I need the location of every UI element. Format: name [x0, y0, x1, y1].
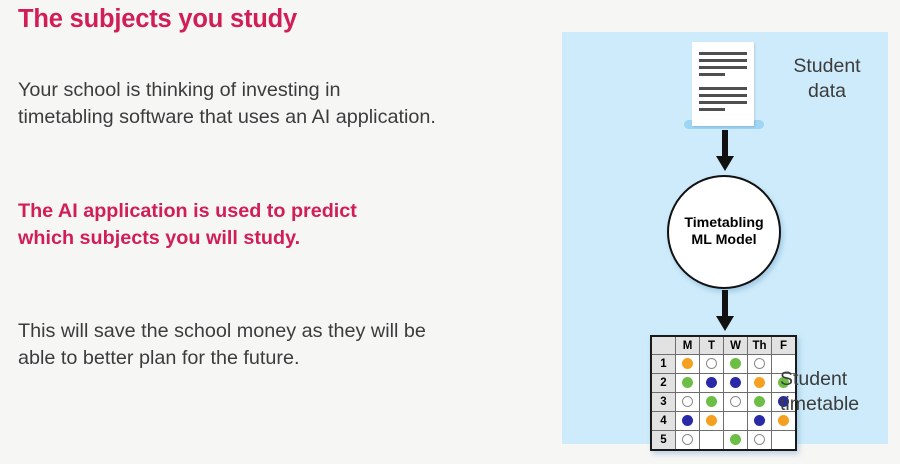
timetable-dot-orange	[706, 415, 717, 426]
timetable-dot-orange	[754, 377, 765, 388]
timetable-cell	[700, 412, 724, 431]
timetable-header-row: M T W Th F	[651, 336, 796, 355]
timetable-cell	[676, 393, 700, 412]
document-line	[699, 87, 747, 90]
document-line	[699, 108, 725, 111]
timetable-cell	[724, 374, 748, 393]
label-student-data-line2: data	[772, 79, 882, 104]
timetable-dot-hollow	[754, 434, 765, 445]
down-arrow-icon	[714, 290, 736, 332]
student-timetable-group: M T W Th F 12345	[650, 335, 797, 451]
diagram-panel: Student data Timetabling ML Model M T W …	[562, 32, 888, 444]
timetable-dot-hollow	[754, 358, 765, 369]
label-student-data-line1: Student	[772, 54, 882, 79]
timetable-cell	[676, 374, 700, 393]
label-student-timetable: Student timetable	[780, 367, 900, 417]
timetable-dot-blue	[706, 377, 717, 388]
timetable-row-header: 1	[651, 355, 676, 374]
timetable-cell	[748, 431, 772, 451]
label-student-timetable-line1: Student	[780, 367, 900, 392]
timetable-row: 5	[651, 431, 796, 451]
ml-model-line1: Timetabling	[684, 215, 763, 232]
timetable-row: 1	[651, 355, 796, 374]
timetable-cell	[724, 355, 748, 374]
label-student-timetable-line2: timetable	[780, 392, 900, 417]
timetable-col-header: F	[772, 336, 797, 355]
timetable-cell	[676, 412, 700, 431]
timetable-body: 12345	[651, 355, 796, 451]
timetable-grid: M T W Th F 12345	[650, 335, 797, 451]
timetable-dot-blue	[730, 377, 741, 388]
timetable-row-header: 4	[651, 412, 676, 431]
timetable-cell	[700, 431, 724, 451]
timetable-col-header: W	[724, 336, 748, 355]
timetable-dot-green	[754, 396, 765, 407]
timetable-dot-hollow	[706, 358, 717, 369]
ml-model-node: Timetabling ML Model	[667, 175, 781, 289]
text-column: The subjects you study Your school is th…	[18, 0, 478, 464]
paragraph-highlight: The AI application is used to predict wh…	[18, 198, 398, 253]
document-line	[699, 52, 747, 55]
timetable-dot-green	[730, 358, 741, 369]
timetable-dot-hollow	[682, 434, 693, 445]
paragraph-intro: Your school is thinking of investing in …	[18, 77, 438, 132]
student-data-document-group	[692, 42, 758, 132]
timetable-dot-green	[706, 396, 717, 407]
timetable-dot-green	[682, 377, 693, 388]
timetable-cell	[700, 393, 724, 412]
down-arrow-icon	[714, 130, 736, 172]
timetable-cell	[724, 431, 748, 451]
timetable-row-header: 2	[651, 374, 676, 393]
document-line	[699, 59, 747, 62]
timetable-dot-blue	[682, 415, 693, 426]
timetable-cell	[748, 393, 772, 412]
timetable-col-header: M	[676, 336, 700, 355]
timetable-row: 4	[651, 412, 796, 431]
timetable-dot-orange	[778, 415, 789, 426]
document-line	[699, 101, 747, 104]
timetable-row-header: 3	[651, 393, 676, 412]
paragraph-outcome: This will save the school money as they …	[18, 318, 438, 373]
timetable-cell	[700, 355, 724, 374]
label-student-data: Student data	[772, 54, 882, 104]
timetable-cell	[748, 355, 772, 374]
timetable-dot-hollow	[730, 396, 741, 407]
document-line	[699, 73, 725, 76]
document-icon	[692, 42, 754, 126]
timetable-cell	[676, 355, 700, 374]
timetable-dot-hollow	[682, 396, 693, 407]
timetable-cell	[748, 412, 772, 431]
timetable-cell	[772, 431, 797, 451]
timetable-cell	[676, 431, 700, 451]
timetable-dot-orange	[682, 358, 693, 369]
timetable-row-header: 5	[651, 431, 676, 451]
timetable-corner-cell	[651, 336, 676, 355]
ml-model-line2: ML Model	[691, 232, 756, 249]
timetable-cell	[748, 374, 772, 393]
timetable-row: 2	[651, 374, 796, 393]
document-line	[699, 66, 747, 69]
timetable-col-header: T	[700, 336, 724, 355]
timetable-col-header: Th	[748, 336, 772, 355]
timetable-row: 3	[651, 393, 796, 412]
timetable-cell	[700, 374, 724, 393]
document-line	[699, 94, 747, 97]
timetable-cell	[724, 393, 748, 412]
timetable-dot-green	[730, 434, 741, 445]
timetable-cell	[724, 412, 748, 431]
page-title: The subjects you study	[18, 0, 478, 34]
timetable-dot-blue	[754, 415, 765, 426]
